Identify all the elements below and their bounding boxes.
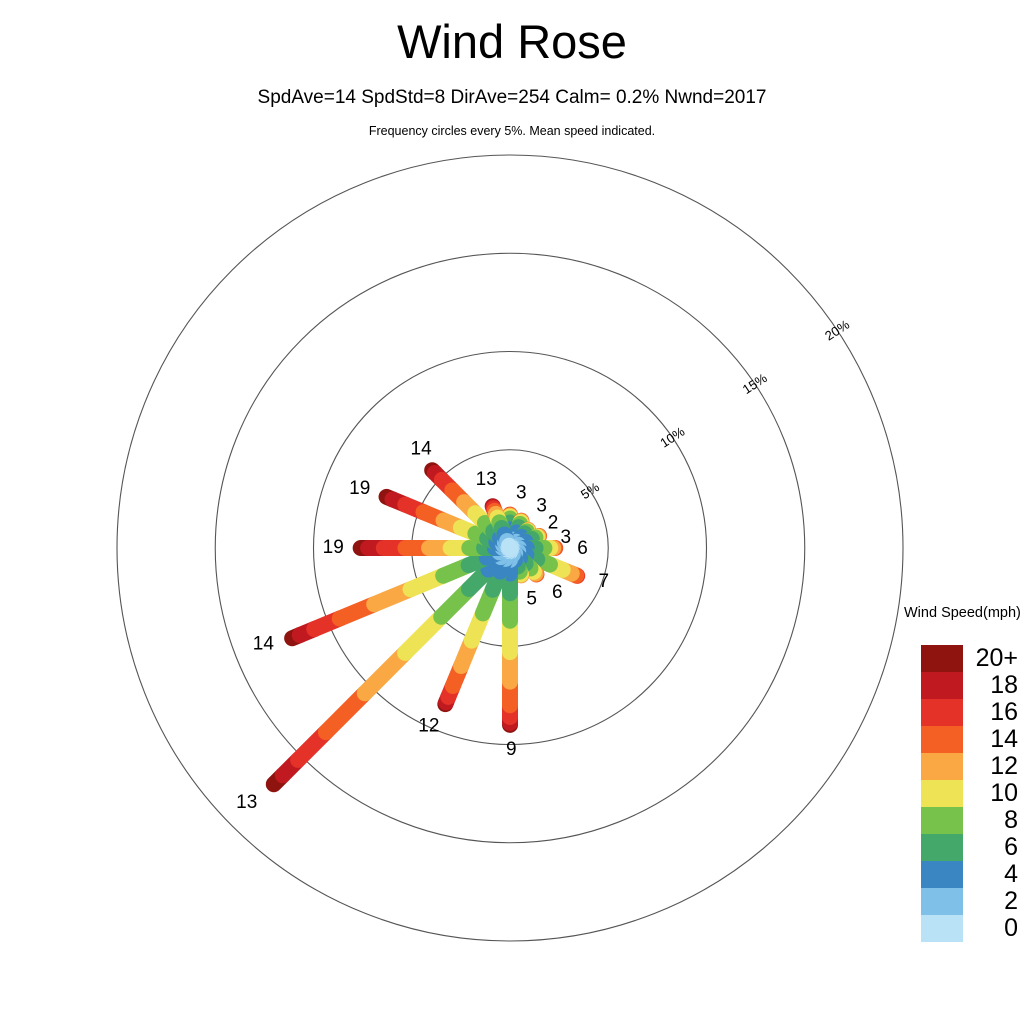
legend-label-4: 4 — [1004, 860, 1018, 888]
mean-speed-label-SE: 6 — [552, 582, 563, 603]
ring-label-10: 10% — [657, 424, 687, 451]
legend-swatch-8[interactable] — [921, 807, 963, 834]
legend-label-16: 16 — [990, 698, 1018, 726]
legend-label-10: 10 — [990, 779, 1018, 807]
legend-swatch-6[interactable] — [921, 834, 963, 861]
mean-speed-label-NNE: 3 — [536, 495, 547, 516]
petal-segment — [509, 546, 510, 548]
legend-label-20plus: 20+ — [976, 644, 1018, 672]
ring-label-15: 15% — [740, 370, 770, 397]
mean-speed-label-W: 19 — [323, 537, 344, 558]
mean-speed-label-NNW: 13 — [476, 469, 497, 490]
mean-speed-label-SW: 13 — [236, 792, 257, 813]
legend-swatch-18[interactable] — [921, 672, 963, 699]
legend-swatch-4[interactable] — [921, 861, 963, 888]
page-title: Wind Rose — [397, 15, 627, 68]
ring-label-5: 5% — [578, 479, 602, 502]
legend-swatch-20plus[interactable] — [921, 645, 963, 672]
wind-rose-chart: Wind Rose SpdAve=14 SpdStd=8 DirAve=254 … — [0, 0, 1024, 1024]
legend-label-6: 6 — [1004, 833, 1018, 861]
legend-swatch-12[interactable] — [921, 753, 963, 780]
legend-label-14: 14 — [990, 725, 1018, 753]
mean-speed-label-E: 6 — [577, 538, 588, 559]
mean-speed-label-SSE: 5 — [526, 589, 537, 610]
summary-stats: SpdAve=14 SpdStd=8 DirAve=254 Calm= 0.2%… — [258, 87, 767, 108]
legend-title: Wind Speed(mph) — [904, 605, 1021, 621]
mean-speed-label-ESE: 7 — [599, 571, 610, 592]
legend-swatch-16[interactable] — [921, 699, 963, 726]
legend-label-12: 12 — [990, 752, 1018, 780]
wind-rose-page: Wind Rose SpdAve=14 SpdStd=8 DirAve=254 … — [0, 0, 1024, 1024]
legend-swatch-14[interactable] — [921, 726, 963, 753]
legend-swatch-0[interactable] — [921, 915, 963, 942]
legend-swatch-2[interactable] — [921, 888, 963, 915]
wind-speed-legend[interactable]: 20+181614121086420 — [921, 644, 1018, 942]
legend-label-8: 8 — [1004, 806, 1018, 834]
wind-petals — [274, 470, 577, 784]
petal-SW — [274, 548, 510, 784]
mean-speed-label-S: 9 — [506, 739, 517, 760]
chart-subtitle: Frequency circles every 5%. Mean speed i… — [369, 124, 655, 138]
ring-tick-labels: 5%10%15%20% — [578, 317, 853, 503]
mean-speed-label-N: 3 — [516, 483, 527, 504]
legend-label-2: 2 — [1004, 887, 1018, 915]
mean-speed-label-WNW: 19 — [349, 478, 370, 499]
mean-speed-label-SSW: 12 — [418, 716, 439, 737]
mean-speed-label-NW: 14 — [411, 439, 433, 460]
mean-speed-label-ENE: 3 — [560, 527, 571, 548]
mean-speed-label-NE: 2 — [548, 512, 559, 533]
legend-swatch-10[interactable] — [921, 780, 963, 807]
petal-segment — [326, 693, 365, 732]
mean-speed-label-WSW: 14 — [253, 633, 275, 654]
legend-label-0: 0 — [1004, 914, 1018, 942]
petal-segment — [365, 653, 405, 693]
ring-label-20: 20% — [822, 317, 852, 344]
legend-label-18: 18 — [990, 671, 1018, 699]
